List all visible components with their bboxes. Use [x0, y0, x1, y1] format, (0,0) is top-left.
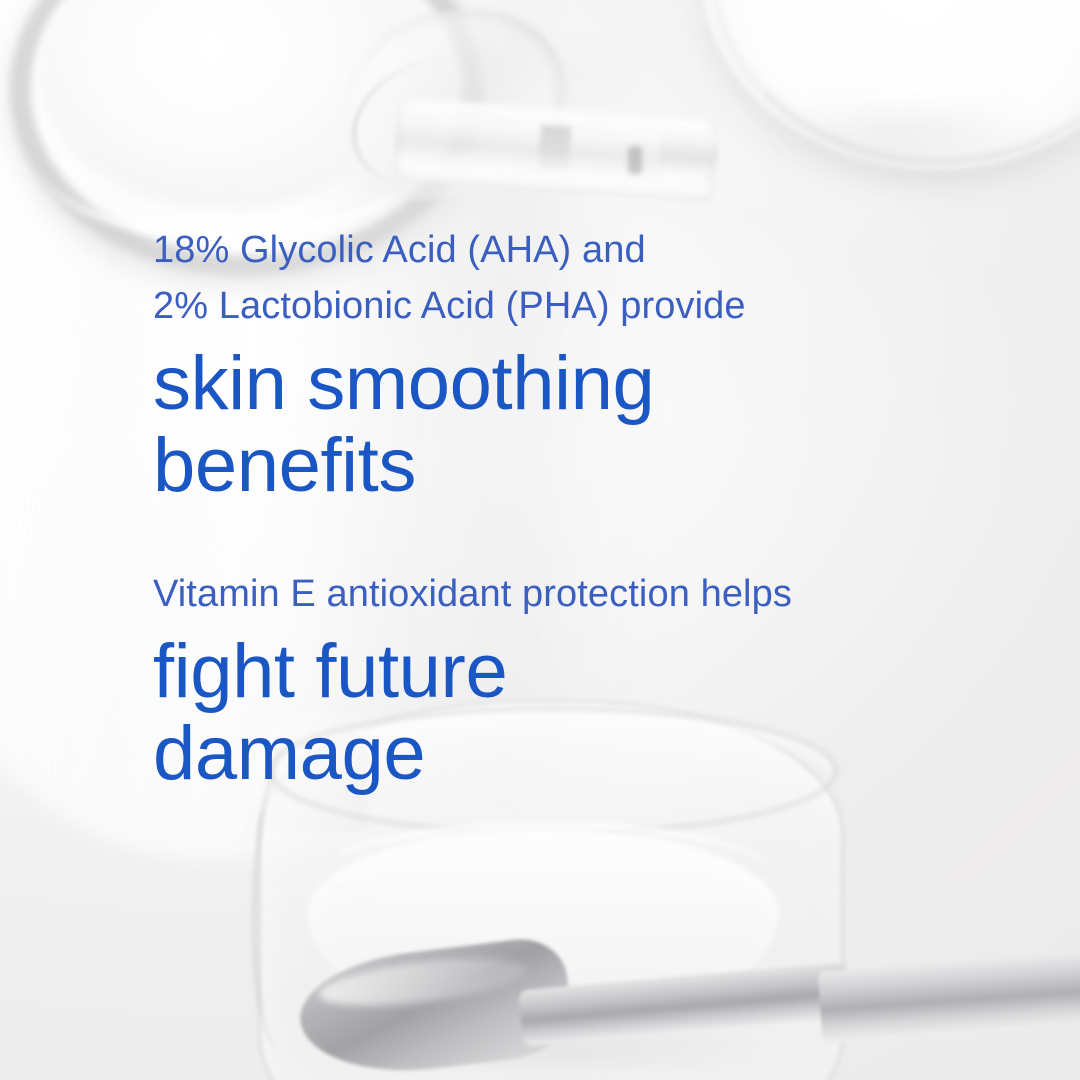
vitamin-e-headline: fight future damage — [153, 628, 792, 798]
marketing-copy: 18% Glycolic Acid (AHA) and 2% Lactobion… — [153, 0, 1053, 1080]
acids-headline-line-1: skin smoothing — [153, 340, 746, 428]
benefit-block-vitamin-e: Vitamin E antioxidant protection helps f… — [153, 566, 792, 798]
acids-subhead-line-1: 18% Glycolic Acid (AHA) and — [153, 222, 746, 278]
vitamin-e-headline-line-1: fight future — [153, 628, 792, 716]
vitamin-e-headline-line-2: damage — [153, 710, 792, 798]
slide-canvas: 18% Glycolic Acid (AHA) and 2% Lactobion… — [0, 0, 1080, 1080]
vitamin-e-subhead: Vitamin E antioxidant protection helps — [153, 566, 792, 622]
acids-headline: skin smoothing benefits — [153, 340, 746, 510]
benefit-block-acids: 18% Glycolic Acid (AHA) and 2% Lactobion… — [153, 222, 746, 510]
acids-subhead: 18% Glycolic Acid (AHA) and 2% Lactobion… — [153, 222, 746, 334]
acids-subhead-line-2: 2% Lactobionic Acid (PHA) provide — [153, 278, 746, 334]
vitamin-e-subhead-line-1: Vitamin E antioxidant protection helps — [153, 566, 792, 622]
acids-headline-line-2: benefits — [153, 422, 746, 510]
